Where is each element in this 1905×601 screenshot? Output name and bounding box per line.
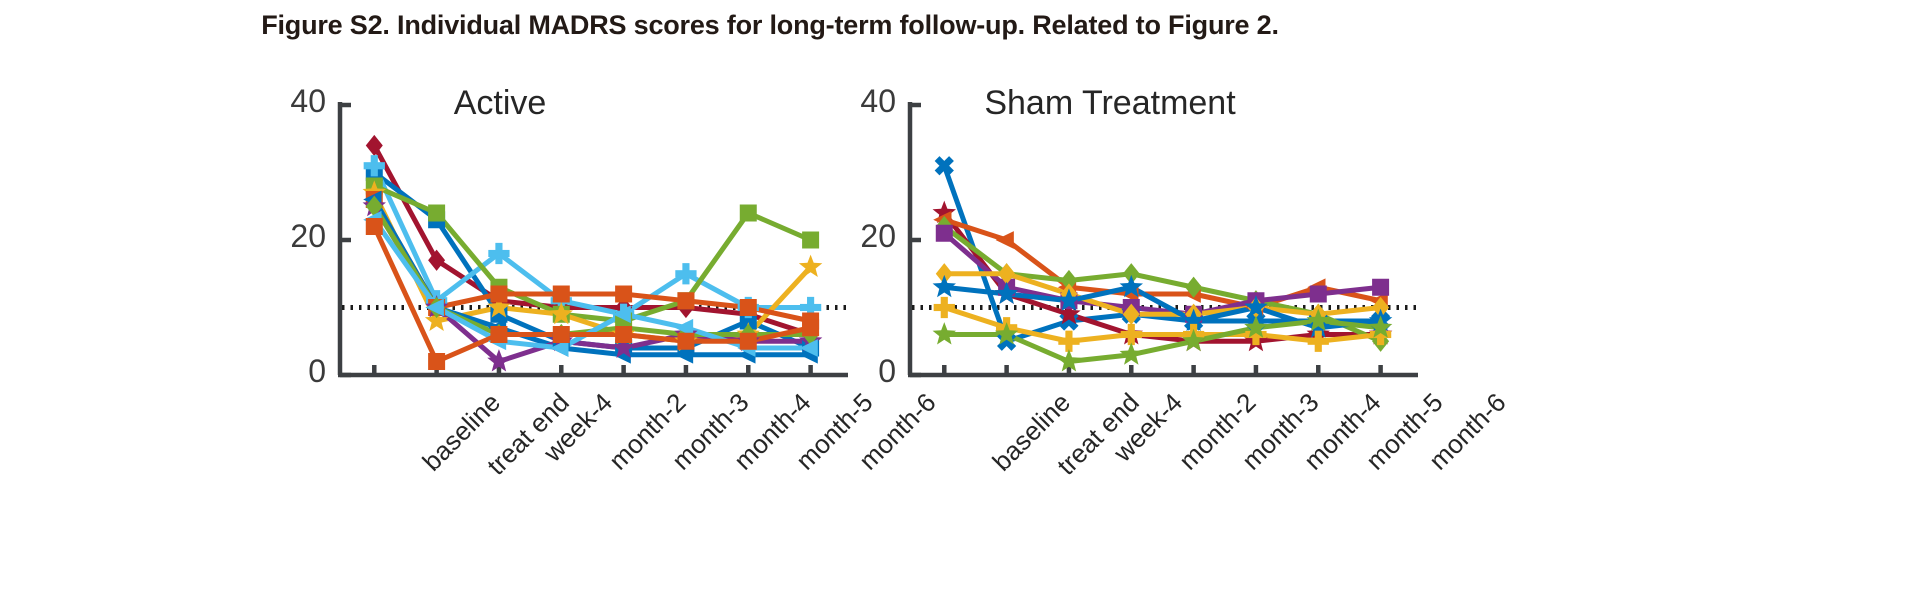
y-axis-tick-label: 20 (256, 218, 326, 255)
panel-title-sham: Sham Treatment (900, 84, 1320, 123)
y-axis-tick-label: 0 (826, 353, 896, 390)
y-axis-tick-label: 0 (256, 353, 326, 390)
chart-panel-sham: Sham Treatment 40200baselinetreat endwee… (840, 80, 1440, 500)
chart-panel-active: Active 40200baselinetreat endweek-4month… (270, 80, 870, 500)
figure-title: Figure S2. Individual MADRS scores for l… (0, 10, 1540, 41)
y-axis-tick-label: 40 (826, 83, 896, 120)
y-axis-tick-label: 40 (256, 83, 326, 120)
panel-title-active: Active (340, 84, 660, 123)
y-axis-tick-label: 20 (826, 218, 896, 255)
